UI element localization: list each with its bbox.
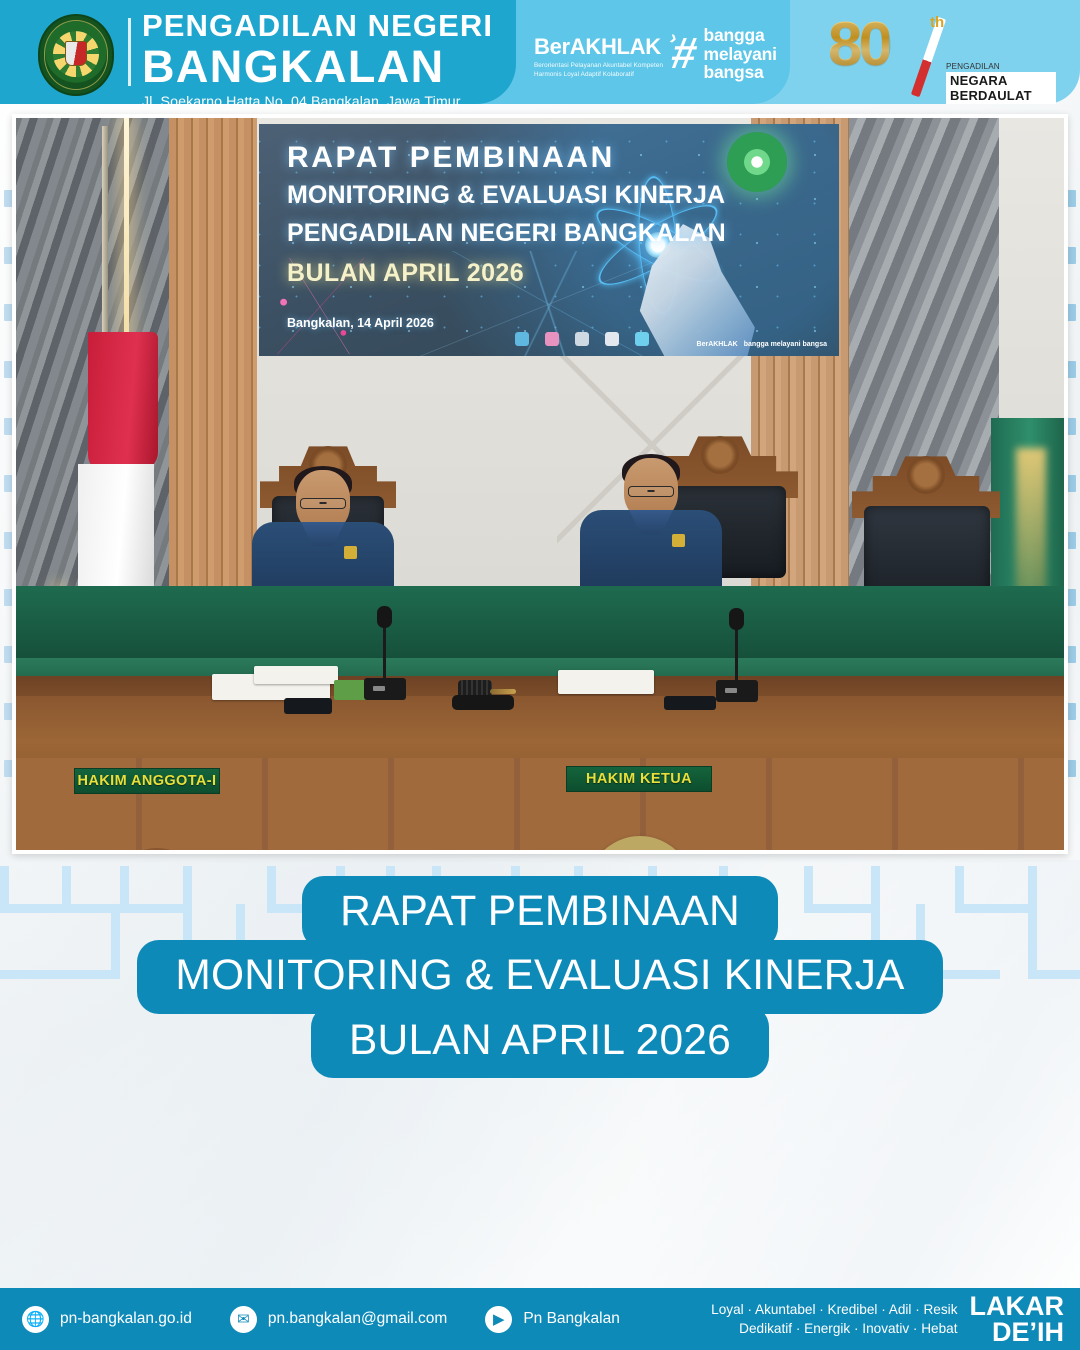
banner-line-4: BULAN APRIL 2026 <box>287 259 524 288</box>
bangga-line-1: bangga <box>703 26 776 45</box>
footer-email[interactable]: pn.bangkalan@gmail.com <box>268 1310 447 1328</box>
berakhlak-subtitle-1: Berorientasi Pelayanan Akuntabel Kompete… <box>534 62 663 71</box>
amber-lamp-glow <box>1016 448 1046 608</box>
berakhlak-title: BerAKHLAK › <box>534 34 663 60</box>
partner-icon-3 <box>575 332 589 346</box>
play-icon: ▶ <box>485 1306 512 1333</box>
footer-lakar-deih: LAKAR DE’IH <box>970 1293 1065 1346</box>
berakhlak-subtitle: Berorientasi Pelayanan Akuntabel Kompete… <box>534 62 663 79</box>
flagpole <box>102 126 108 340</box>
poster-title-block: RAPAT PEMBINAAN MONITORING & EVALUASI KI… <box>0 876 1080 1078</box>
partner-icon-1 <box>515 332 529 346</box>
documents-left-2 <box>254 666 338 684</box>
footer-values-line-1: Loyal · Akuntabel · Kredibel · Adil · Re… <box>711 1300 957 1319</box>
bangga-line-3: bangsa <box>703 63 776 82</box>
event-photo-frame: RAPAT PEMBINAAN MONITORING & EVALUASI KI… <box>12 114 1068 854</box>
event-photo: RAPAT PEMBINAAN MONITORING & EVALUASI KI… <box>16 118 1064 850</box>
judge-left-person <box>248 470 398 600</box>
berakhlak-logo: BerAKHLAK › Berorientasi Pelayanan Akunt… <box>534 34 663 79</box>
anniversary-number: 80 <box>828 14 889 76</box>
banner-logo-berakhlak: BerAKHLAK <box>697 341 738 348</box>
gavel <box>452 678 514 710</box>
bangga-text: bangga melayani bangsa <box>703 26 776 82</box>
partner-icon-4 <box>605 332 619 346</box>
phone-left <box>284 698 332 714</box>
title-line-1: RAPAT PEMBINAAN <box>302 876 778 949</box>
footer-website[interactable]: pn-bangkalan.go.id <box>60 1310 192 1328</box>
banner-line-1: RAPAT PEMBINAAN <box>287 141 615 175</box>
header-address: Jl. Soekarno Hatta No. 04,Bangkalan, Jaw… <box>142 94 512 110</box>
banner-date: Bangkalan, 14 April 2026 <box>287 316 434 330</box>
title-line-2: MONITORING & EVALUASI KINERJA <box>137 940 942 1013</box>
empty-chair-right <box>846 448 1006 598</box>
footer-values-line-2: Dedikatif · Energik · Inovativ · Hebat <box>711 1319 957 1338</box>
flag-red-band <box>88 332 158 472</box>
banner-logo-bangga: bangga melayani bangsa <box>744 341 827 348</box>
banner-line-3: PENGADILAN NEGERI BANGKALAN <box>287 219 726 248</box>
seal-ring <box>44 20 108 90</box>
berakhlak-subtitle-2: Harmonis Loyal Adaptif Kolaboratif <box>534 71 663 80</box>
anniversary-subtitle-2: NEGARA BERDAULAT <box>946 72 1056 104</box>
header-divider <box>128 18 131 86</box>
court-seal-icon <box>38 14 114 96</box>
header-title-block: PENGADILAN NEGERI BANGKALAN Jl. Soekarno… <box>142 10 512 110</box>
footer-youtube[interactable]: Pn Bangkalan <box>523 1310 620 1328</box>
banner-footer-logos: BerAKHLAK bangga melayani bangsa <box>697 341 827 348</box>
poster-page: PENGADILAN NEGERI BANGKALAN Jl. Soekarno… <box>0 0 1080 1350</box>
banner-line-2: MONITORING & EVALUASI KINERJA <box>287 181 725 210</box>
judge-right-person <box>576 458 726 588</box>
page-header: PENGADILAN NEGERI BANGKALAN Jl. Soekarno… <box>0 0 1080 108</box>
partner-icon-5 <box>635 332 649 346</box>
microphone-left <box>364 674 406 700</box>
event-banner-screen: RAPAT PEMBINAAN MONITORING & EVALUASI KI… <box>259 124 839 356</box>
anniversary-th: th <box>930 14 944 31</box>
bangga-line-2: melayani <box>703 45 776 64</box>
wood-slat-panel-left <box>169 118 257 586</box>
page-footer: 🌐 pn-bangkalan.go.id ✉ pn.bangkalan@gmai… <box>0 1288 1080 1350</box>
banner-partner-icons <box>515 332 649 346</box>
mail-icon: ✉ <box>230 1306 257 1333</box>
header-line-1: PENGADILAN NEGERI <box>142 10 512 43</box>
footer-brand-line-2: DE’IH <box>970 1319 1065 1345</box>
anniversary-80-logo: 80 th PENGADILAN BERMARTABAT NEGARA BERD… <box>826 8 1056 100</box>
microphone-right <box>716 676 758 702</box>
footer-contacts: 🌐 pn-bangkalan.go.id ✉ pn.bangkalan@gmai… <box>22 1288 620 1350</box>
phone-right <box>664 696 716 710</box>
hashtag-icon: # <box>669 34 700 74</box>
nameplate-hakim-ketua: HAKIM KETUA <box>566 766 712 792</box>
title-line-3: BULAN APRIL 2026 <box>311 1005 769 1078</box>
berakhlak-title-text: BerAKHLAK <box>534 34 661 59</box>
footer-brand-line-1: LAKAR <box>970 1293 1065 1319</box>
header-line-2: BANGKALAN <box>142 44 512 89</box>
banner-court-seal-icon <box>727 132 787 192</box>
globe-icon: 🌐 <box>22 1306 49 1333</box>
nameplate-hakim-anggota: HAKIM ANGGOTA-I <box>74 768 220 794</box>
partner-icon-2 <box>545 332 559 346</box>
open-book-right <box>558 670 654 694</box>
footer-values: Loyal · Akuntabel · Kredibel · Adil · Re… <box>711 1300 957 1339</box>
bangga-melayani-bangsa-logo: # bangga melayani bangsa <box>672 26 777 82</box>
footer-brand: Loyal · Akuntabel · Kredibel · Adil · Re… <box>711 1288 1064 1350</box>
bench-green-top <box>16 586 1064 658</box>
